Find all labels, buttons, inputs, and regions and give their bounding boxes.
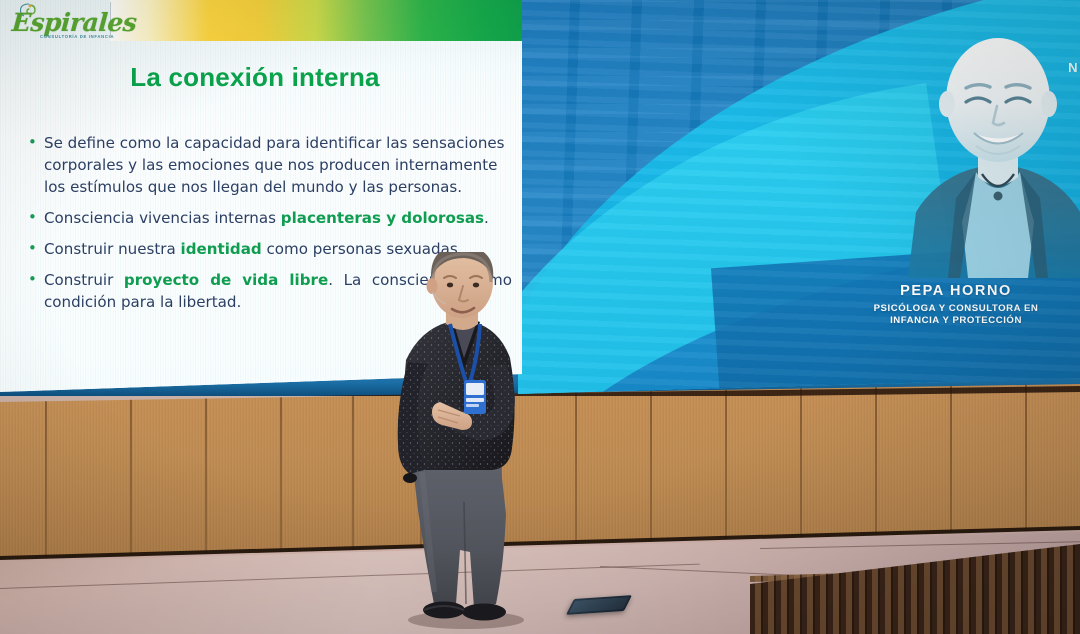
tablet-screen [569,597,629,613]
slide-header-gradient-bar [110,0,522,41]
slide-title: La conexión interna [0,62,510,93]
slide-bullet-1-segment-2: . [484,209,489,227]
slide-bullet-2-segment-1: identidad [181,240,262,258]
slide-bullet-0-segment-0: Se define como la capacidad para identif… [44,134,505,196]
banner-speaker-role: PSICÓLOGA Y CONSULTORA EN INFANCIA Y PRO… [826,303,1080,327]
stage-scene: N PEPA HORNO PSICÓLOGA Y CONSULTORA EN I… [0,0,1080,634]
logo-wordmark: Espirales [11,10,137,35]
banner-corner-logo: N [1068,60,1078,75]
speaker-banner: N PEPA HORNO PSICÓLOGA Y CONSULTORA EN I… [518,0,1080,394]
banner-speaker-role-line1: PSICÓLOGA Y CONSULTORA EN [826,303,1080,315]
presenter-person [388,252,554,632]
speaker-portrait-photo [898,22,1080,278]
slide-bullet-3-segment-1: proyecto de vida libre [124,271,328,289]
slide-bullet-1-segment-0: Consciencia vivencias internas [44,209,281,227]
logo-tagline: CONSULTORÍA DE INFANCIA [40,34,114,39]
slide-bullet-3-segment-0: Construir [44,271,124,289]
banner-speaker-name: PEPA HORNO [836,283,1076,299]
slide-bullet-1-segment-1: placenteras y dolorosas [281,209,484,227]
banner-speaker-role-line2: INFANCIA Y PROTECCIÓN [826,315,1080,327]
slide-bullet-0: Se define como la capacidad para identif… [22,132,512,198]
slide-bullet-1: Consciencia vivencias internas placenter… [22,207,512,229]
slide-bullet-2-segment-0: Construir nuestra [44,240,181,258]
espirales-logo: Espirales CONSULTORÍA DE INFANCIA [4,2,108,44]
